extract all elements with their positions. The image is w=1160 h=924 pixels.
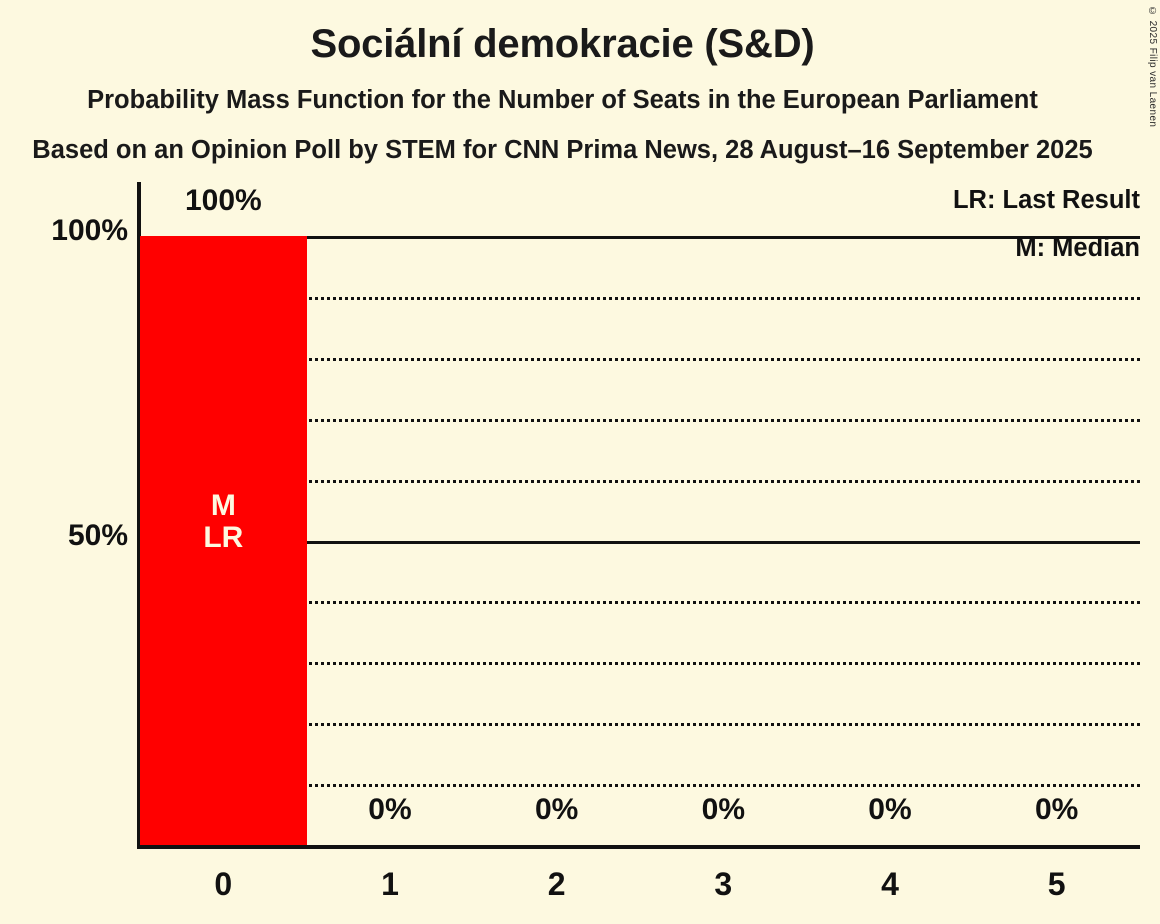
x-axis-tick-label: 0 (140, 866, 307, 903)
y-axis-tick-label: 50% (0, 519, 128, 553)
legend-item-last-result: LR: Last Result (953, 186, 1140, 215)
chart-subtitle: Probability Mass Function for the Number… (0, 86, 1125, 115)
x-axis-tick-label: 5 (973, 866, 1140, 903)
x-axis-tick-label: 4 (807, 866, 974, 903)
bar-value-label: 0% (973, 793, 1140, 827)
bar-value-label: 0% (640, 793, 807, 827)
bar-value-label: 0% (307, 793, 474, 827)
x-axis-tick-label: 3 (640, 866, 807, 903)
chart-title: Sociální demokracie (S&D) (0, 22, 1125, 67)
x-axis-tick-label: 2 (473, 866, 640, 903)
median-marker: M (140, 490, 307, 522)
plot-area: 100%0%0%0%0%0%MLR (140, 236, 1140, 845)
chart-source-note: Based on an Opinion Poll by STEM for CNN… (0, 136, 1125, 165)
x-axis-line (140, 845, 1140, 849)
copyright-notice: © 2025 Filip van Laenen (1147, 6, 1158, 127)
bar-value-label: 100% (140, 184, 307, 218)
y-axis-tick-label: 100% (0, 214, 128, 248)
x-axis-tick-label: 1 (307, 866, 474, 903)
bar-value-label: 0% (807, 793, 974, 827)
chart-container: Sociální demokracie (S&D) Probability Ma… (0, 0, 1160, 924)
bar-value-label: 0% (473, 793, 640, 827)
bar-marker-labels: MLR (140, 490, 307, 555)
last-result-marker: LR (140, 522, 307, 554)
